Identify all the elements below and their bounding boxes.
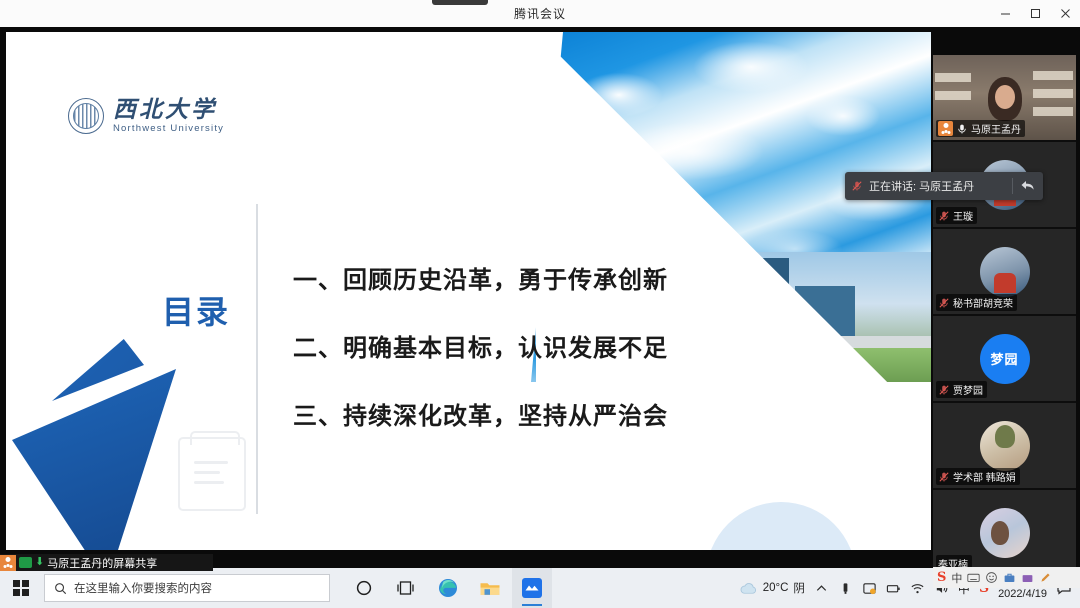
participant-name: 学术部 韩路娟 [953, 469, 1016, 484]
participant-name: 秘书部胡竞荣 [953, 295, 1013, 310]
file-explorer-icon[interactable] [470, 568, 510, 608]
cortana-icon[interactable] [344, 568, 384, 608]
taskbar-items [344, 568, 552, 608]
keyboard-icon[interactable] [967, 571, 980, 584]
briefcase-icon[interactable] [1021, 571, 1034, 584]
participant-tile-4[interactable]: 学术部 韩路娟 [933, 403, 1076, 488]
participant-name-bar: 学术部 韩路娟 [936, 468, 1020, 485]
speaking-toast-text: 正在讲话: 马原王孟丹 [869, 178, 1006, 194]
monitor-share-icon [19, 557, 32, 568]
shared-screen-slide[interactable]: 西北大学 Northwest University 目录 一、回顾历史沿革，勇于… [6, 32, 931, 550]
weather-temp: 20°C [763, 582, 789, 594]
participant-tile-3[interactable]: 梦园 贾梦园 [933, 316, 1076, 401]
chevron-up-icon[interactable] [814, 581, 829, 596]
reply-arrow-icon[interactable] [1019, 177, 1037, 195]
maximize-button[interactable] [1020, 0, 1050, 27]
university-logo: 西北大学 Northwest University [68, 98, 224, 134]
weather-widget[interactable]: 20°C 阴 [739, 580, 805, 596]
task-view-icon[interactable] [386, 568, 426, 608]
logo-cn-text: 西北大学 [113, 98, 224, 122]
participant-tile-2[interactable]: 秘书部胡竞荣 [933, 229, 1076, 314]
cloud-icon [739, 581, 758, 596]
screen-share-label: 马原王孟丹的屏幕共享 [47, 555, 157, 571]
windows-start-icon[interactable] [0, 568, 42, 608]
close-button[interactable] [1050, 0, 1080, 27]
avatar [980, 247, 1030, 297]
university-seal-icon [68, 98, 104, 134]
logo-en-text: Northwest University [113, 123, 224, 134]
clock-date: 2022/4/19 [998, 588, 1047, 602]
search-icon [54, 582, 67, 595]
windows-taskbar: 在这里输入你要搜索的内容 [0, 568, 1080, 608]
sogou-ime-bar[interactable]: S 中 [933, 567, 1080, 588]
meeting-stage: 西北大学 Northwest University 目录 一、回顾历史沿革，勇于… [0, 27, 1080, 568]
speaking-toast[interactable]: 正在讲话: 马原王孟丹 [845, 172, 1043, 200]
participant-name-bar: 秘书部胡竞荣 [936, 294, 1017, 311]
sogou-icon[interactable]: S [937, 570, 946, 585]
page-title: 目录 [162, 287, 230, 333]
window-title: 腾讯会议 [514, 5, 566, 22]
screenshot-icon[interactable] [862, 581, 877, 596]
mic-on-icon [956, 123, 968, 135]
participant-name-bar: 王璇 [936, 207, 977, 224]
avatar: 梦园 [980, 334, 1030, 384]
participant-name: 王璇 [953, 208, 973, 223]
participant-name: 马原王孟丹 [971, 121, 1021, 136]
participant-rail: 马原王孟丹 王璇 [933, 55, 1076, 565]
battery-icon[interactable] [886, 581, 901, 596]
speaker-face [988, 77, 1022, 121]
participant-name: 贾梦园 [953, 382, 983, 397]
toolbox-icon[interactable] [1003, 571, 1016, 584]
list-item: 一、回顾历史沿革，勇于传承创新 [293, 260, 713, 295]
host-icon [0, 555, 16, 571]
download-arrow-icon: ⬇ [35, 557, 44, 568]
search-input[interactable]: 在这里输入你要搜索的内容 [44, 574, 330, 602]
mic-muted-icon [938, 297, 950, 309]
avatar [980, 508, 1030, 558]
screen-share-banner: ⬇ 马原王孟丹的屏幕共享 [0, 554, 213, 571]
window-title-bar: 腾讯会议 [0, 0, 1080, 27]
participant-tile-5[interactable]: 秦亚楠 [933, 490, 1076, 575]
pencil-icon[interactable] [1039, 571, 1052, 584]
list-item: 三、持续深化改革，坚持从严治会 [293, 396, 713, 431]
smiley-icon[interactable] [985, 571, 998, 584]
search-placeholder: 在这里输入你要搜索的内容 [74, 580, 212, 596]
toast-divider [1012, 178, 1013, 194]
mic-muted-icon [851, 180, 863, 192]
table-of-contents: 一、回顾历史沿革，勇于传承创新 二、明确基本目标，认识发展不足 三、持续深化改革… [293, 260, 713, 464]
edge-icon[interactable] [428, 568, 468, 608]
wifi-icon[interactable] [910, 581, 925, 596]
participant-tile-0[interactable]: 马原王孟丹 [933, 55, 1076, 140]
mic-muted-icon [938, 384, 950, 396]
list-item: 二、明确基本目标，认识发展不足 [293, 328, 713, 363]
participant-name-bar: 马原王孟丹 [936, 120, 1025, 137]
weather-desc: 阴 [793, 580, 805, 596]
participant-name-bar: 贾梦园 [936, 381, 987, 398]
document-outline-icon [178, 437, 246, 511]
screen: 腾讯会议 [0, 0, 1080, 608]
mic-muted-icon [938, 210, 950, 222]
window-controls [990, 0, 1080, 27]
avatar [980, 421, 1030, 471]
tencent-meeting-icon[interactable] [512, 568, 552, 608]
ime-mode[interactable]: 中 [951, 570, 962, 586]
vertical-divider [256, 204, 258, 514]
triangle-decoration-large [12, 369, 176, 550]
minimize-button[interactable] [990, 0, 1020, 27]
usb-icon[interactable] [838, 581, 853, 596]
mic-muted-icon [938, 471, 950, 483]
host-icon [938, 121, 953, 136]
window-drag-handle[interactable] [432, 0, 488, 5]
